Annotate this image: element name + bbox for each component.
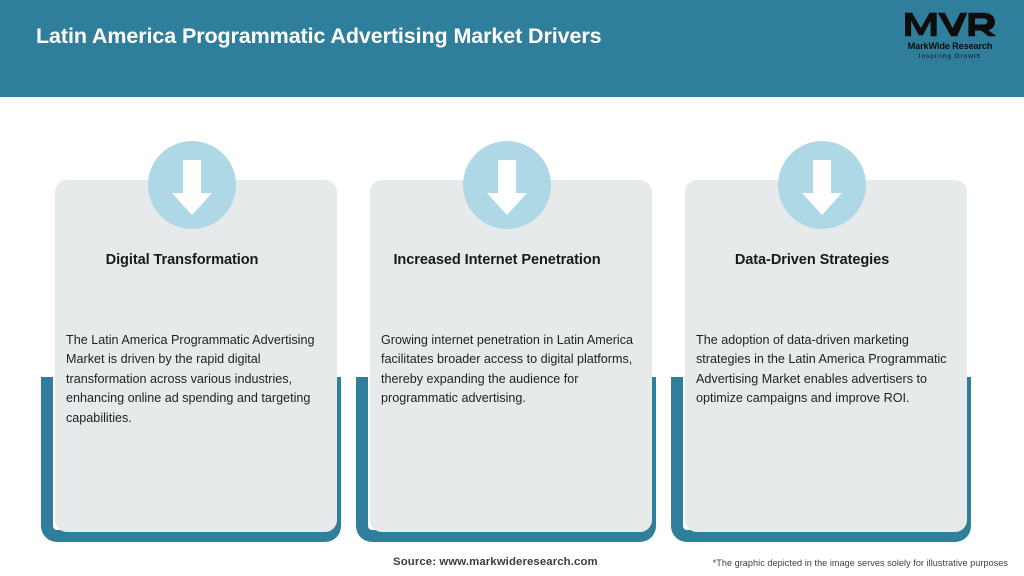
driver-card-3[interactable]: Data-Driven Strategies The adoption of d… [671, 141, 971, 542]
card-description: The Latin America Programmatic Advertisi… [66, 331, 320, 428]
down-arrow-icon [778, 141, 866, 229]
card-title: Data-Driven Strategies [695, 249, 929, 271]
down-arrow-icon [148, 141, 236, 229]
disclaimer-label: *The graphic depicted in the image serve… [713, 558, 1008, 568]
driver-card-1[interactable]: Digital Transformation The Latin America… [41, 141, 341, 542]
card-description: Growing internet penetration in Latin Am… [381, 331, 635, 409]
card-title: Digital Transformation [65, 249, 299, 271]
down-arrow-icon [463, 141, 551, 229]
source-label: Source: www.markwideresearch.com [393, 556, 598, 568]
drivers-card-row: Digital Transformation The Latin America… [0, 0, 1024, 576]
driver-card-2[interactable]: Increased Internet Penetration Growing i… [356, 141, 656, 542]
card-title: Increased Internet Penetration [380, 249, 614, 271]
card-description: The adoption of data-driven marketing st… [696, 331, 950, 409]
slide-root: Latin America Programmatic Advertising M… [0, 0, 1024, 576]
